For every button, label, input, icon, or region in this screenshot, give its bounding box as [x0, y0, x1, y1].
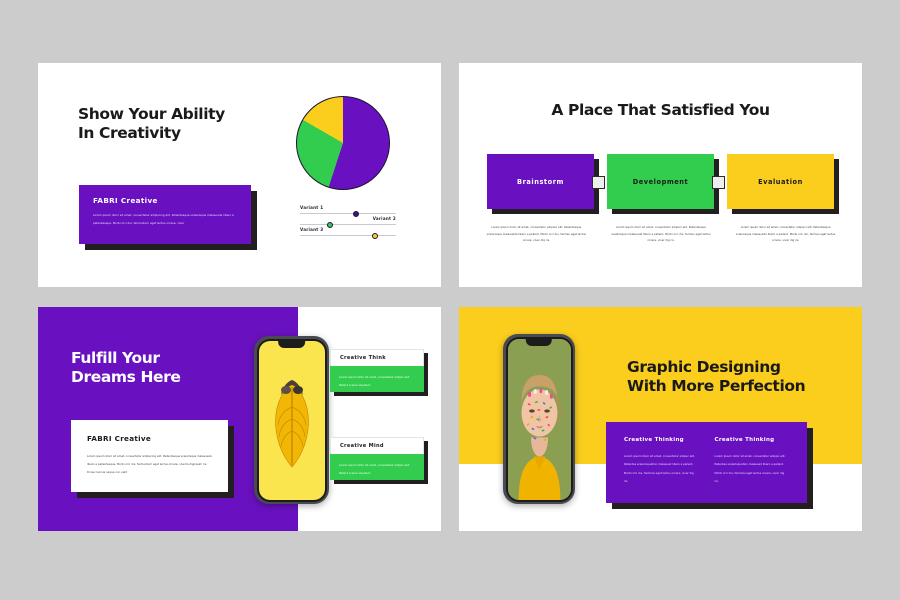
card-column: Creative Thinking Lorem ipsum dolor sit …: [624, 437, 699, 503]
phone-mockup: [503, 334, 575, 504]
flow-connector: [592, 176, 605, 189]
step-label: Brainstorm: [517, 178, 564, 186]
side-card-creative-mind[interactable]: Creative Mind Lorem ipsum dolor sit amet…: [330, 437, 424, 480]
slide-show-your-ability[interactable]: Show Your Ability In Creativity FABRI Cr…: [38, 63, 441, 287]
page-title: Graphic Designing With More Perfection: [627, 358, 857, 396]
side-card-text: Lorem ipsum dolor sit amet, consectetur …: [339, 373, 415, 390]
page-title: A Place That Satisfied You: [459, 101, 862, 120]
title-line-2: Dreams Here: [71, 368, 271, 387]
fabri-creative-card[interactable]: FABRI Creative Lorem ipsum dolor sit ame…: [71, 420, 228, 492]
card-body: Lorem ipsum dolor sit amet, consectetur …: [87, 452, 212, 476]
title-line-1: Graphic Designing: [627, 358, 857, 377]
leaf-icon: [269, 377, 315, 469]
slider-track[interactable]: [300, 213, 396, 214]
portrait-photo: [508, 339, 571, 500]
flow-connector: [712, 176, 725, 189]
slider-thumb[interactable]: [372, 233, 378, 239]
fabri-creative-card[interactable]: FABRI Creative Lorem ipsum dolor sit ame…: [79, 185, 251, 244]
slider-track[interactable]: [300, 235, 396, 236]
column-title: Creative Thinking: [624, 437, 699, 443]
slide-fulfill-your-dreams-here[interactable]: Fulfill Your Dreams Here FABRI Creative …: [38, 307, 441, 531]
process-flow: Brainstorm Development Evaluation: [487, 154, 835, 212]
phone-screen: [508, 339, 571, 500]
step-face: Brainstorm: [487, 154, 594, 209]
title-line-1: Fulfill Your: [71, 349, 271, 368]
slider-row[interactable]: Variant 1: [300, 205, 396, 214]
page-title: Fulfill Your Dreams Here: [71, 349, 271, 387]
slider-track[interactable]: [300, 224, 396, 225]
phone-notch: [526, 339, 552, 346]
title-line-1: Show Your Ability: [78, 105, 278, 124]
side-card-header: Creative Mind: [330, 437, 424, 454]
phone-screen: [259, 341, 325, 500]
side-card-header: Creative Think: [330, 349, 424, 366]
slider-label: Variant 1: [300, 205, 396, 210]
pie-chart: [296, 96, 390, 190]
card-title: FABRI Creative: [87, 434, 212, 443]
step-description: Lorem ipsum dolor sit amet, consectetur …: [610, 225, 713, 245]
slide-graphic-designing[interactable]: Graphic Designing With More Perfection C…: [459, 307, 862, 531]
step-descriptions: Lorem ipsum dolor sit amet, consectetur …: [485, 225, 837, 245]
side-card-body: Lorem ipsum dolor sit amet, consectetur …: [330, 454, 424, 480]
card-title: FABRI Creative: [93, 196, 237, 205]
page-title: Show Your Ability In Creativity: [78, 105, 278, 143]
title-line-2: In Creativity: [78, 124, 278, 143]
step-label: Development: [633, 178, 688, 186]
step-description: Lorem ipsum dolor sit amet, consectetur …: [485, 225, 588, 245]
card-column: Creative Thinking Lorem ipsum dolor sit …: [715, 437, 790, 503]
step-label: Evaluation: [758, 178, 803, 186]
slider-label: Variant 3: [300, 227, 396, 232]
flow-step-brainstorm[interactable]: Brainstorm: [487, 154, 594, 209]
slider-row[interactable]: Variant 3: [300, 227, 396, 236]
phone-frame: [506, 337, 573, 502]
slider-label: Variant 2: [300, 216, 396, 221]
column-title: Creative Thinking: [715, 437, 790, 443]
slide-deck: Show Your Ability In Creativity FABRI Cr…: [38, 63, 862, 531]
slider-group: Variant 1 Variant 2 Variant 3: [300, 205, 396, 238]
flow-step-development[interactable]: Development: [607, 154, 714, 209]
flow-step-evaluation[interactable]: Evaluation: [727, 154, 834, 209]
card-body: Lorem ipsum dolor sit amet, consectetur …: [93, 212, 237, 228]
side-card-body: Lorem ipsum dolor sit amet, consectetur …: [330, 366, 424, 392]
column-body: Lorem ipsum dolor sit amet, consectetur …: [715, 452, 790, 486]
leaf-illustration: [269, 377, 315, 469]
step-face: Evaluation: [727, 154, 834, 209]
side-card-title: Creative Think: [340, 355, 386, 361]
phone-mockup: [254, 336, 329, 504]
slider-row[interactable]: Variant 2: [300, 216, 396, 225]
phone-frame: [257, 339, 327, 502]
creative-thinking-card[interactable]: Creative Thinking Lorem ipsum dolor sit …: [606, 422, 807, 503]
column-body: Lorem ipsum dolor sit amet, consectetur …: [624, 452, 699, 486]
step-description: Lorem ipsum dolor sit amet, consectetur …: [734, 225, 837, 245]
side-card-title: Creative Mind: [340, 443, 384, 449]
step-face: Development: [607, 154, 714, 209]
title-line-2: With More Perfection: [627, 377, 857, 396]
side-card-text: Lorem ipsum dolor sit amet, consectetur …: [339, 461, 415, 478]
side-card-creative-think[interactable]: Creative Think Lorem ipsum dolor sit ame…: [330, 349, 424, 392]
slide-a-place-that-satisfied-you[interactable]: A Place That Satisfied You Brainstorm De…: [459, 63, 862, 287]
phone-notch: [278, 341, 306, 348]
